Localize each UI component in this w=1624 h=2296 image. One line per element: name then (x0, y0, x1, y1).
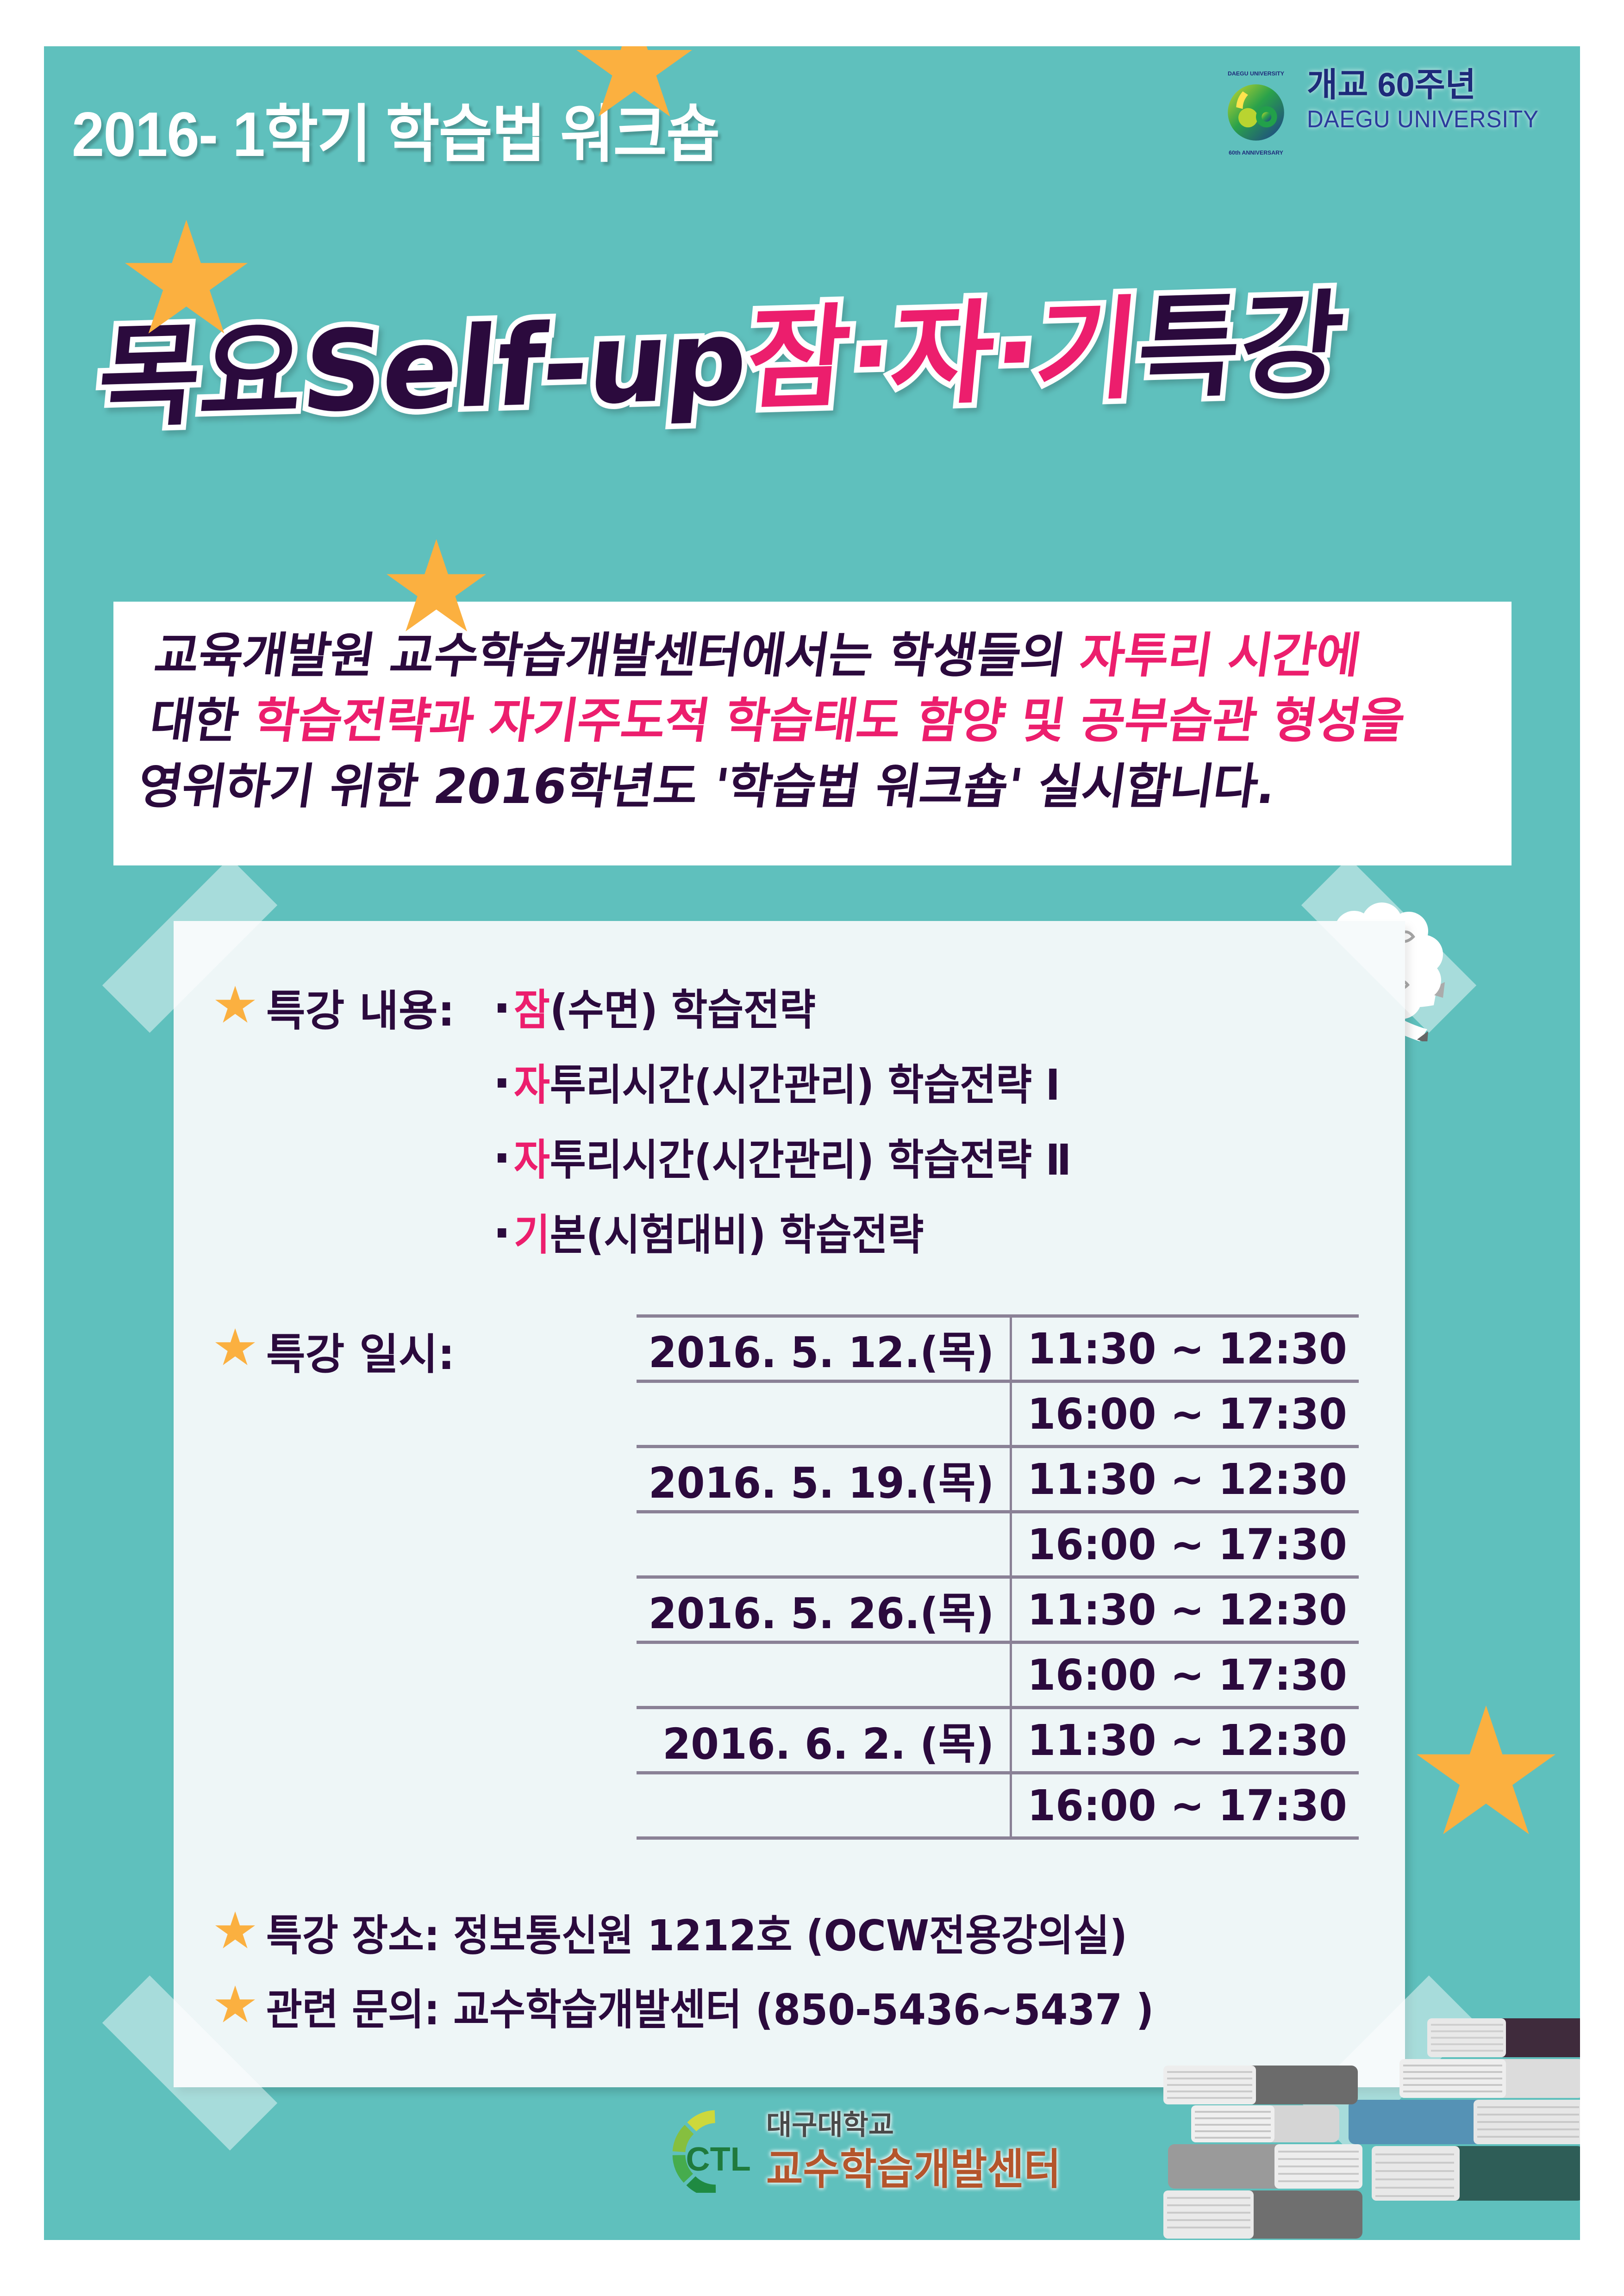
contact-row: 관련 문의: 교수학습개발센터 (850-5436~5437 ) (266, 1975, 1154, 2037)
bullet-square-icon (498, 1228, 506, 1238)
description-line-1: 교육개발원 교수학습개발센터에서는 학생들의 자투리 시간에 (150, 623, 1507, 688)
card-ribbon-top-left (102, 858, 277, 1033)
content-item-3: 기본(시험대비) 학습전략 (498, 1201, 924, 1262)
anniversary-logo: DAEGU UNIVERSITY 60th ANNIVERSARY 개교 60주… (1212, 60, 1555, 157)
content-item-0: 잠(수면) 학습전략 (498, 976, 816, 1037)
content-item-1: 자투리시간(시간관리) 학습전략 Ⅰ (498, 1051, 1060, 1112)
schedule-date-cell (646, 1512, 1001, 1577)
schedule-row: 2016. 5. 12.(목)11:30 ~ 12:30 (637, 1316, 1359, 1381)
schedule-time-cell: 11:30 ~ 12:30 (1019, 1577, 1350, 1643)
bullet-star-contact (215, 1985, 255, 2025)
schedule-label-row: 특강 일시: (266, 1320, 455, 1381)
bullet-star-content (215, 986, 255, 1026)
schedule-time-cell: 16:00 ~ 17:30 (1019, 1512, 1350, 1577)
schedule-date-cell (646, 1773, 1001, 1838)
description-text: 교육개발원 교수학습개발센터에서는 학생들의 자투리 시간에 대한 학습전략과 … (132, 623, 1507, 819)
ctl-footer-logo: CTL 대구대학교 교수학습개발센터 (667, 2099, 1074, 2198)
schedule-date-cell: 2016. 5. 12.(목) (646, 1316, 1001, 1381)
schedule-row: 16:00 ~ 17:30 (637, 1381, 1359, 1447)
bullet-star-venue (215, 1911, 255, 1951)
daegu-60th-anniversary-mark: DAEGU UNIVERSITY 60th ANNIVERSARY (1212, 68, 1300, 156)
venue-row: 특강 장소: 정보통신원 1212호 (OCW전용강의실) (266, 1901, 1127, 1963)
content-label: 특강 내용: (266, 986, 455, 1036)
poster-canvas: 2016- 1학기 학습법 워크숍 DAEGU UNIVERSITY 60th … (44, 46, 1580, 2240)
bullet-square-icon (498, 1153, 506, 1163)
description-line-3: 영위하기 위한 2016학년도 '학습법 워크숍' 실시합니다. (134, 754, 1488, 819)
book-stack-illustration (1149, 2011, 1580, 2240)
schedule-date-cell (646, 1381, 1001, 1447)
content-item-2: 자투리시간(시간관리) 학습전략 Ⅱ (498, 1126, 1071, 1187)
venue-label: 특강 장소: (266, 1911, 440, 1960)
schedule-time-cell: 11:30 ~ 12:30 (1019, 1316, 1350, 1381)
description-brush-block: 교육개발원 교수학습개발센터에서는 학생들의 자투리 시간에 대한 학습전략과 … (113, 602, 1512, 865)
schedule-label: 특강 일시: (266, 1330, 455, 1379)
headline-part-4: 특강 (1131, 253, 1351, 420)
schedule-time-cell: 16:00 ~ 17:30 (1019, 1643, 1350, 1708)
bullet-square-icon (498, 1003, 506, 1013)
schedule-time-cell: 11:30 ~ 12:30 (1019, 1447, 1350, 1512)
headline-part-3: 잠·자·기 (741, 259, 1147, 431)
svg-text:CTL: CTL (686, 2141, 751, 2178)
schedule-row: 2016. 5. 26.(목)11:30 ~ 12:30 (637, 1577, 1359, 1643)
schedule-row: 2016. 5. 19.(목)11:30 ~ 12:30 (637, 1447, 1359, 1512)
schedule-date-cell: 2016. 6. 2. (목) (646, 1708, 1001, 1773)
headline-part-2: Self-up (297, 295, 754, 437)
svg-text:60th ANNIVERSARY: 60th ANNIVERSARY (1229, 149, 1284, 156)
bullet-square-icon (498, 1078, 506, 1088)
schedule-date-cell (646, 1643, 1001, 1708)
ctl-center-name: 교수학습개발센터 (766, 2135, 1061, 2196)
schedule-table-grid: 2016. 5. 12.(목)11:30 ~ 12:3016:00 ~ 17:3… (637, 1314, 1359, 1840)
schedule-date-cell: 2016. 5. 19.(목) (646, 1447, 1001, 1512)
svg-text:DAEGU UNIVERSITY: DAEGU UNIVERSITY (1228, 70, 1285, 77)
decorative-star-right (1417, 1705, 1555, 1844)
content-label-row: 특강 내용: (266, 977, 455, 1038)
main-headline: 목요 Self-up 잠·자·기 특강 (93, 249, 1518, 441)
schedule-row: 16:00 ~ 17:30 (637, 1512, 1359, 1577)
schedule-time-cell: 16:00 ~ 17:30 (1019, 1773, 1350, 1838)
info-card: 특강 내용: 잠(수면) 학습전략 자투리시간(시간관리) 학습전략 Ⅰ 자투리… (174, 921, 1405, 2087)
schedule-row: 16:00 ~ 17:30 (637, 1773, 1359, 1838)
anniversary-english-label: DAEGU UNIVERSITY (1307, 106, 1540, 133)
schedule-table: 2016. 5. 12.(목)11:30 ~ 12:3016:00 ~ 17:3… (637, 1314, 1303, 1840)
bullet-star-schedule (215, 1328, 255, 1368)
contact-value: 교수학습개발센터 (850-5436~5437 ) (453, 1985, 1154, 2035)
anniversary-korean-label: 개교 60주년 (1307, 68, 1552, 102)
schedule-row: 2016. 6. 2. (목)11:30 ~ 12:30 (637, 1708, 1359, 1773)
schedule-time-cell: 16:00 ~ 17:30 (1019, 1381, 1350, 1447)
schedule-row: 16:00 ~ 17:30 (637, 1643, 1359, 1708)
contact-label: 관련 문의: (266, 1985, 440, 2035)
venue-value: 정보통신원 1212호 (OCW전용강의실) (453, 1911, 1127, 1960)
schedule-time-cell: 11:30 ~ 12:30 (1019, 1708, 1350, 1773)
description-line-2: 대한 학습전략과 자기주도적 학습태도 함양 및 공부습관 형성을 (146, 688, 1498, 753)
ctl-logo-icon: CTL (667, 2107, 755, 2193)
schedule-date-cell: 2016. 5. 26.(목) (646, 1577, 1001, 1643)
